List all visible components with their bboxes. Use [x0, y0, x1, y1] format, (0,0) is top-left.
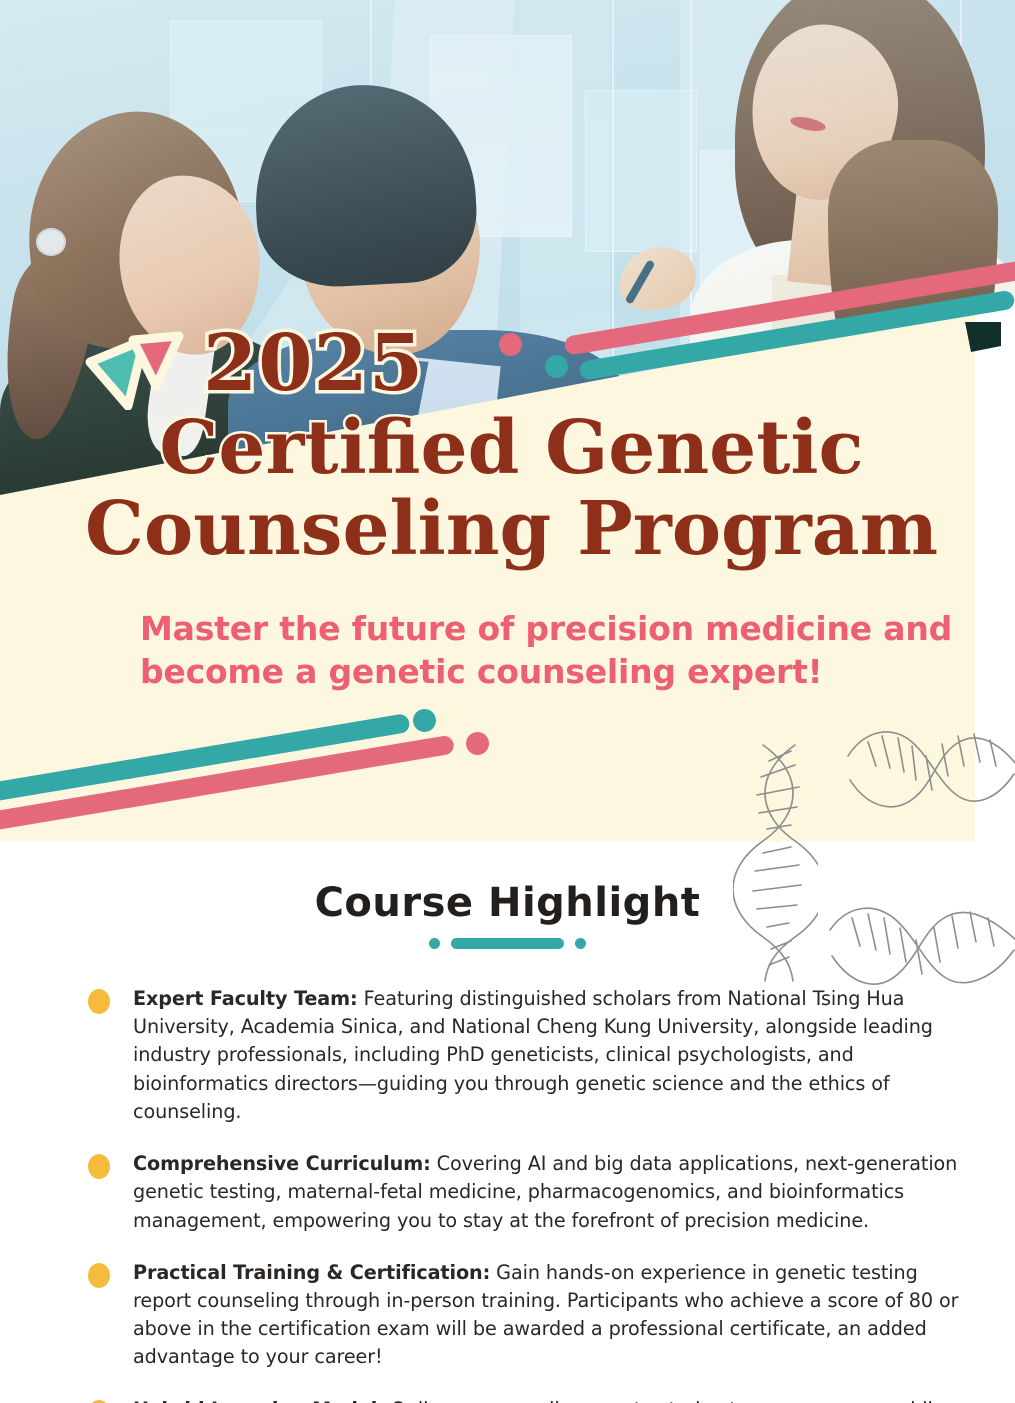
bullet-dot-icon [88, 1154, 110, 1179]
list-item: Expert Faculty Team: Featuring distingui… [88, 985, 968, 1126]
bullet-dot-icon [88, 989, 110, 1014]
list-item: Comprehensive Curriculum: Covering AI an… [88, 1150, 968, 1235]
section-title: Course Highlight [0, 880, 1015, 926]
bullet-dot-icon [88, 1400, 110, 1403]
page-subtitle: Master the future of precision medicine … [140, 608, 960, 694]
poster-page: 2025 Certified Genetic Counseling Progra… [0, 0, 1015, 1403]
highlight-text: Expert Faculty Team: Featuring distingui… [133, 985, 968, 1126]
dna-helix-icon [846, 722, 1015, 822]
list-item: Hybrid Learning Model: Online courses al… [88, 1396, 968, 1403]
highlights-list: Expert Faculty Team: Featuring distingui… [88, 985, 968, 1403]
teal-dot-top [545, 355, 568, 378]
highlight-label: Expert Faculty Team: [133, 987, 358, 1010]
pink-dot-mid [466, 732, 489, 755]
page-title-line-1: Certified Genetic [8, 408, 1015, 489]
highlight-text: Comprehensive Curriculum: Covering AI an… [133, 1150, 968, 1235]
teal-dot-mid [413, 709, 436, 732]
highlight-label: Hybrid Learning Model: [133, 1398, 385, 1403]
divider-dot-left [429, 938, 440, 949]
divider-dot-right [575, 938, 586, 949]
highlight-text: Hybrid Learning Model: Online courses al… [133, 1396, 968, 1403]
bullet-dot-icon [88, 1263, 110, 1288]
list-item: Practical Training & Certification: Gain… [88, 1259, 968, 1372]
pink-triangle-icon [125, 328, 185, 392]
page-title: Certified Genetic Counseling Program [0, 408, 1015, 571]
year-label: 2025 [203, 325, 424, 403]
highlight-label: Practical Training & Certification: [133, 1261, 490, 1284]
highlight-text: Practical Training & Certification: Gain… [133, 1259, 968, 1372]
pink-dot-top [499, 333, 522, 356]
page-title-line-2: Counseling Program [8, 489, 1015, 570]
highlight-label: Comprehensive Curriculum: [133, 1152, 431, 1175]
divider-bar [451, 938, 564, 949]
section-divider [0, 938, 1015, 949]
